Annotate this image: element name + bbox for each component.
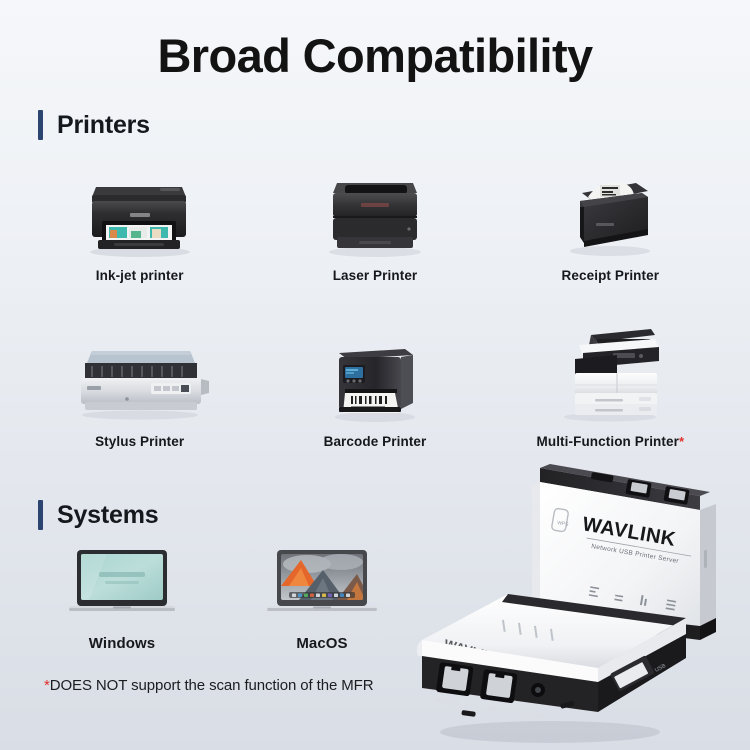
barcode-printer-icon bbox=[257, 318, 492, 423]
footnote-text: DOES NOT support the scan function of th… bbox=[50, 677, 374, 694]
section-title-printers: Printers bbox=[57, 111, 150, 140]
printer-item-inkjet: Ink-jet printer bbox=[22, 152, 257, 283]
system-label: Windows bbox=[89, 635, 155, 652]
printer-grid-row-1: Ink-jet printer bbox=[22, 152, 728, 283]
stylus-printer-icon bbox=[22, 318, 257, 423]
page-title: Broad Compatibility bbox=[0, 28, 750, 83]
port-label-lan: LAN bbox=[484, 706, 496, 714]
inkjet-printer-icon bbox=[22, 152, 257, 257]
printer-label: Stylus Printer bbox=[95, 434, 184, 449]
printer-label: Barcode Printer bbox=[324, 434, 427, 449]
printer-item-laser: Laser Printer bbox=[257, 152, 492, 283]
footnote-asterisk: * bbox=[679, 434, 684, 449]
section-title-systems: Systems bbox=[57, 501, 158, 530]
macbook-icon bbox=[222, 540, 422, 620]
system-label: MacOS bbox=[296, 635, 347, 652]
receipt-printer-icon bbox=[493, 152, 728, 257]
printer-grid-row-2: Stylus Printer bbox=[22, 318, 728, 449]
system-item-macos: MacOS bbox=[222, 540, 422, 652]
printer-label: Multi-Function Printer* bbox=[537, 434, 685, 449]
port-label-dc: DC 5V IN bbox=[522, 712, 548, 721]
multifunction-printer-icon bbox=[493, 318, 728, 423]
section-header-systems: Systems bbox=[38, 500, 158, 530]
printer-label: Laser Printer bbox=[333, 268, 418, 283]
section-accent-bar bbox=[38, 500, 43, 530]
printer-item-barcode: Barcode Printer bbox=[257, 318, 492, 449]
product-photo-group: WPS WAVLINK Network USB Printer Server bbox=[400, 450, 750, 750]
section-header-printers: Printers bbox=[38, 110, 150, 140]
printer-item-receipt: Receipt Printer bbox=[493, 152, 728, 283]
printer-label-text: Multi-Function Printer bbox=[537, 434, 679, 449]
footnote: *DOES NOT support the scan function of t… bbox=[44, 677, 373, 694]
systems-grid: Windows bbox=[22, 540, 422, 652]
section-accent-bar bbox=[38, 110, 43, 140]
laser-printer-icon bbox=[257, 152, 492, 257]
system-item-windows: Windows bbox=[22, 540, 222, 652]
port-label-bridge: BRIDGE bbox=[436, 698, 460, 707]
printer-server-front: WAVLINK BR bbox=[417, 594, 686, 743]
printer-label: Ink-jet printer bbox=[96, 268, 184, 283]
printer-item-multifunction: Multi-Function Printer* bbox=[493, 318, 728, 449]
infographic-page: Broad Compatibility Printers bbox=[0, 0, 750, 750]
printer-item-stylus: Stylus Printer bbox=[22, 318, 257, 449]
windows-laptop-icon bbox=[22, 540, 222, 620]
printer-label: Receipt Printer bbox=[562, 268, 660, 283]
